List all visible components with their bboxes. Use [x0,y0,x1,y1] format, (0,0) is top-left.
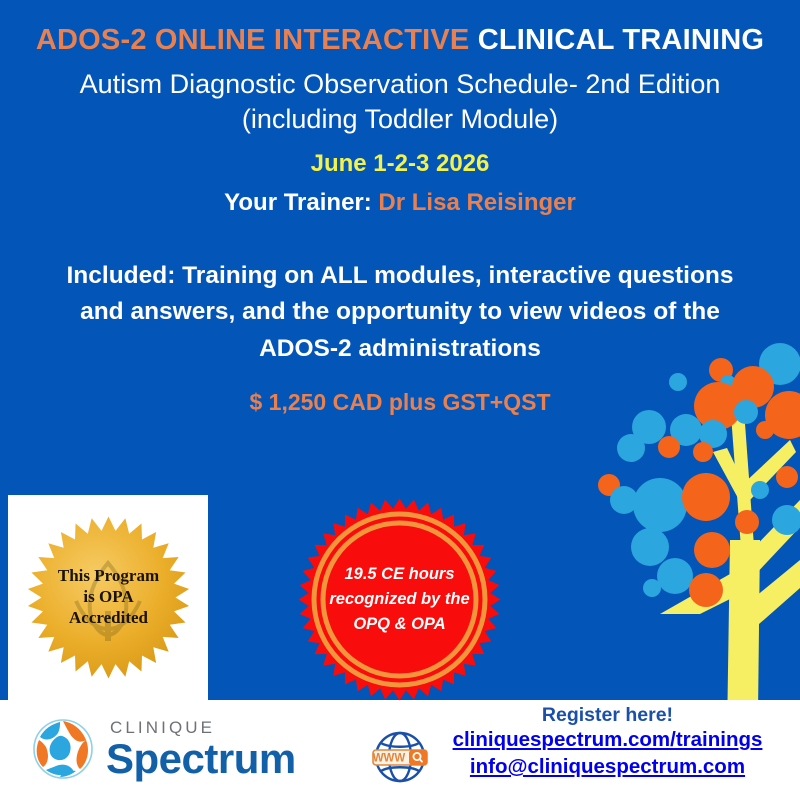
foliage-circle [756,421,774,439]
foliage-circle [682,473,730,521]
clinique-spectrum-logo[interactable]: CLINIQUE Spectrum [32,718,296,780]
registration-info: Register here! cliniquespectrum.com/trai… [425,703,790,781]
foliage-circle [694,532,730,568]
logo-clinique-text: CLINIQUE [110,719,296,736]
opa-accreditation-seal: This Program is OPA Accredited [26,515,191,680]
opa-seal-line-3: Accredited [69,608,148,629]
title-part-main: CLINICAL TRAINING [478,24,764,56]
opa-seal-text: This Program is OPA Accredited [26,515,191,680]
price-text: $ 1,250 CAD plus GST+QST [0,389,800,417]
page-title: ADOS-2 ONLINE INTERACTIVE CLINICAL TRAIN… [0,24,800,56]
trainer-label: Your Trainer: [224,189,378,216]
ce-seal-text: 19.5 CE hours recognized by the OPQ & OP… [297,497,502,702]
email-link[interactable]: info@cliniquespectrum.com [425,754,790,781]
opa-seal-line-2: is OPA [83,587,133,608]
event-date: June 1-2-3 2026 [0,150,800,179]
ce-seal-line-3: OPQ & OPA [353,612,445,637]
subtitle-line-1: Autism Diagnostic Observation Schedule- … [0,67,800,102]
foliage-circle [617,434,645,462]
subtitle-line-2: (including Toddler Module) [0,102,800,137]
foliage-circle [776,466,798,488]
foliage-circle [658,436,680,458]
foliage-circle [657,558,693,594]
logo-spectrum-text: Spectrum [106,738,296,780]
foliage-circle [633,478,687,532]
website-link[interactable]: cliniquespectrum.com/trainings [425,727,790,754]
foliage-circle [735,510,759,534]
www-label: WWW [373,753,406,765]
training-poster: ADOS-2 ONLINE INTERACTIVE CLINICAL TRAIN… [0,0,800,800]
trainer-info: Your Trainer: Dr Lisa Reisinger [0,189,800,218]
ce-hours-seal: 19.5 CE hours recognized by the OPQ & OP… [297,497,502,702]
foliage-circle [693,442,713,462]
foliage-circle [631,528,669,566]
ce-seal-line-1: 19.5 CE hours [344,562,454,587]
foliage-circle [689,573,723,607]
globe-www-icon: WWW [369,726,431,788]
ce-seal-line-2: recognized by the [329,587,469,612]
register-heading: Register here! [425,703,790,727]
title-part-highlight: ADOS-2 ONLINE INTERACTIVE [36,24,478,56]
foliage-circle [751,481,769,499]
opa-seal-line-1: This Program [58,566,159,587]
foliage-circle [643,579,661,597]
trainer-name: Dr Lisa Reisinger [378,189,575,216]
poster-text-block: ADOS-2 ONLINE INTERACTIVE CLINICAL TRAIN… [0,0,800,417]
included-description: Included: Training on ALL modules, inter… [50,258,750,367]
spectrum-mosaic-icon [32,718,94,780]
